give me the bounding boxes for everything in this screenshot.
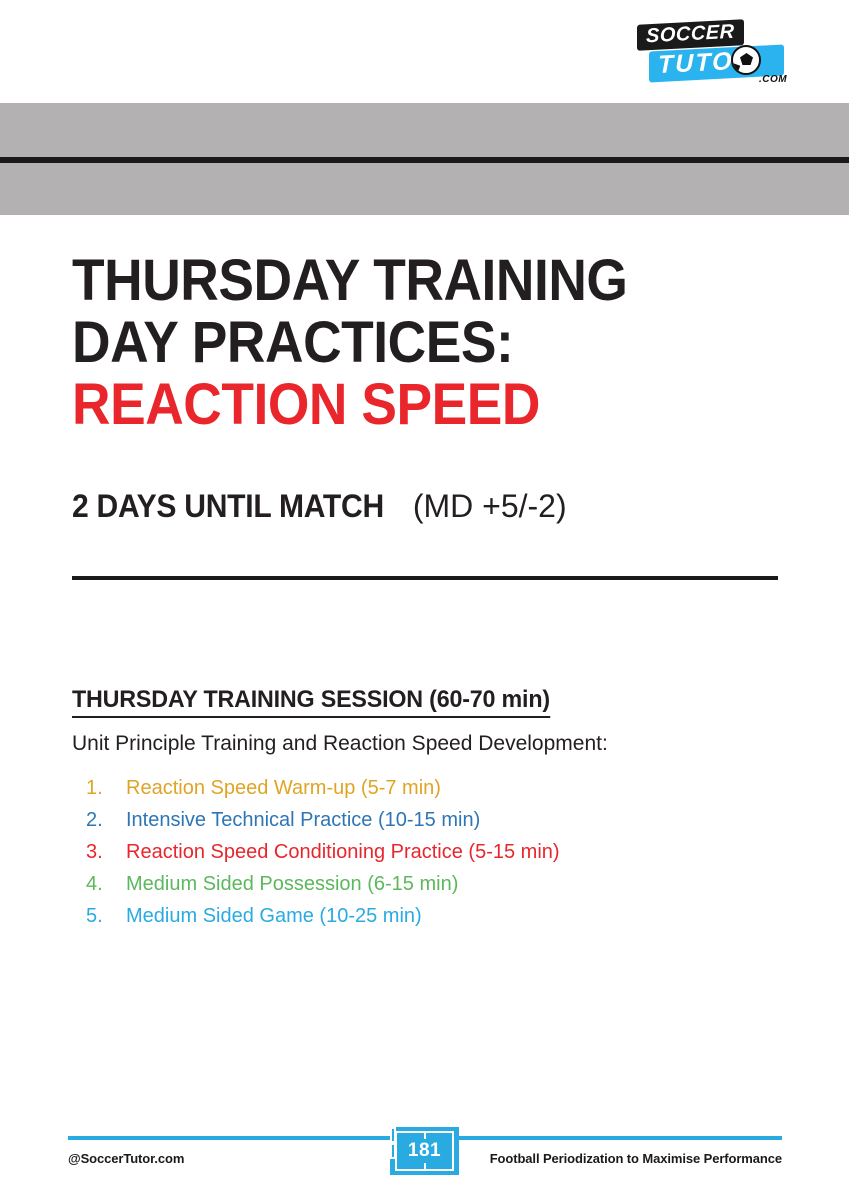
- logo-soccer-word: SOCCER: [637, 19, 744, 51]
- soccertutor-logo: SOCCER TUTOR .COM: [627, 22, 793, 88]
- list-item-label: Reaction Speed Warm-up (5-7 min): [126, 772, 441, 804]
- footer-rule-left: [68, 1136, 390, 1140]
- title-line-1: THURSDAY TRAINING: [72, 250, 725, 312]
- list-item: 4. Medium Sided Possession (6-15 min): [86, 868, 746, 900]
- grey-band-rule: [0, 157, 849, 163]
- title-line-2: DAY PRACTICES:: [72, 312, 725, 374]
- list-item-label: Medium Sided Game (10-25 min): [126, 900, 422, 932]
- list-item: 2. Intensive Technical Practice (10-15 m…: [86, 804, 746, 836]
- list-item: 1. Reaction Speed Warm-up (5-7 min): [86, 772, 746, 804]
- page-header: SOCCER TUTOR .COM: [0, 0, 849, 103]
- soccer-ball-icon: [731, 45, 761, 75]
- list-item-number: 2.: [86, 804, 126, 836]
- list-item-number: 1.: [86, 772, 126, 804]
- list-item: 3. Reaction Speed Conditioning Practice …: [86, 836, 746, 868]
- match-day-subtitle: 2 DAYS UNTIL MATCH(MD +5/-2): [72, 487, 567, 525]
- list-item-number: 4.: [86, 868, 126, 900]
- list-item-number: 5.: [86, 900, 126, 932]
- session-heading: THURSDAY TRAINING SESSION (60-70 min): [72, 686, 550, 718]
- subtitle-bold: 2 DAYS UNTIL MATCH: [72, 487, 384, 525]
- page-title: THURSDAY TRAINING DAY PRACTICES: REACTIO…: [72, 250, 782, 436]
- footer-website-label: @SoccerTutor.com: [68, 1150, 184, 1168]
- decorative-grey-band: [0, 103, 849, 215]
- list-item-label: Reaction Speed Conditioning Practice (5-…: [126, 836, 560, 868]
- title-line-3-accent: REACTION SPEED: [72, 374, 725, 436]
- list-item-label: Intensive Technical Practice (10-15 min): [126, 804, 480, 836]
- subtitle-light: (MD +5/-2): [413, 487, 567, 525]
- footer-book-title: Football Periodization to Maximise Perfo…: [490, 1150, 782, 1168]
- list-item: 5. Medium Sided Game (10-25 min): [86, 900, 746, 932]
- list-item-number: 3.: [86, 836, 126, 868]
- session-subheading: Unit Principle Training and Reaction Spe…: [72, 731, 608, 757]
- practice-list: 1. Reaction Speed Warm-up (5-7 min) 2. I…: [86, 772, 746, 932]
- logo-dotcom-suffix: .COM: [759, 74, 787, 85]
- list-item-label: Medium Sided Possession (6-15 min): [126, 868, 458, 900]
- section-divider: [72, 576, 778, 580]
- page-number: 181: [390, 1127, 459, 1175]
- soccer-pitch-icon: 181: [390, 1127, 459, 1175]
- footer-rule-right: [459, 1136, 782, 1140]
